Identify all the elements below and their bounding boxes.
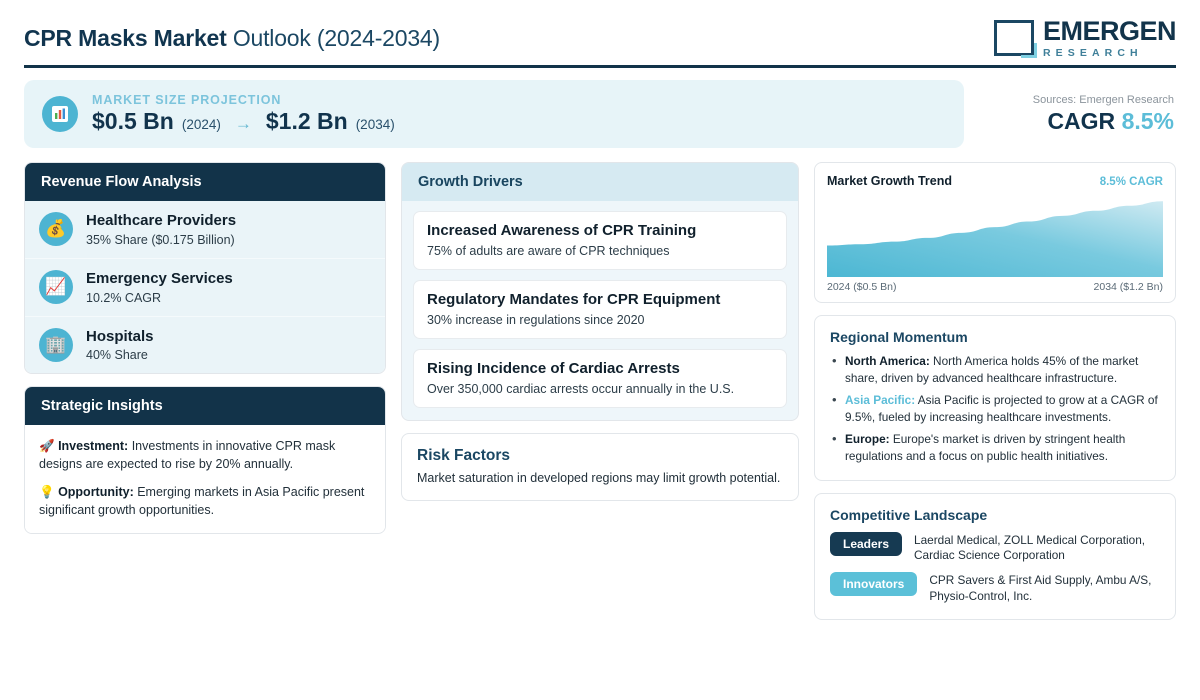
growth-drivers-card: Growth Drivers Increased Awareness of CP…: [401, 162, 799, 421]
cagr-headline: CAGR 8.5%: [1033, 108, 1174, 135]
driver-title: Regulatory Mandates for CPR Equipment: [427, 291, 773, 309]
status-badge-innovators: Innovators: [830, 572, 917, 596]
page-title: CPR Masks Market Outlook (2024-2034): [24, 25, 440, 52]
middle-column: Growth Drivers Increased Awareness of CP…: [401, 162, 799, 501]
row-name: Emergency Services: [86, 270, 233, 289]
driver-title: Increased Awareness of CPR Training: [427, 222, 773, 240]
year-2024: (2024): [182, 117, 221, 132]
emergen-research-logo: EMERGEN RESEARCH: [994, 18, 1176, 59]
chart-increasing-icon: 📈: [39, 270, 73, 304]
sources-text: Sources: Emergen Research: [1033, 94, 1174, 106]
logo-name: EMERGEN: [1043, 18, 1176, 45]
growth-drivers-list: Increased Awareness of CPR Training 75% …: [402, 201, 798, 420]
list-item[interactable]: Regulatory Mandates for CPR Equipment 30…: [413, 280, 787, 339]
risk-factors-card: Risk Factors Market saturation in develo…: [401, 433, 799, 501]
revenue-flow-title: Revenue Flow Analysis: [25, 163, 385, 201]
chart-header: Market Growth Trend 8.5% CAGR: [827, 174, 1163, 188]
market-size-figures: $0.5 Bn (2024) → $1.2 Bn (2034): [92, 108, 395, 135]
market-size-label: MARKET SIZE PROJECTION: [92, 93, 395, 107]
logo-subtitle: RESEARCH: [1043, 48, 1176, 59]
row-text: Healthcare Providers 35% Share ($0.175 B…: [86, 212, 236, 247]
content-columns: Revenue Flow Analysis 💰 Healthcare Provi…: [24, 162, 1176, 620]
header-divider: [24, 65, 1176, 68]
year-2034: (2034): [356, 117, 395, 132]
innovators-companies: CPR Savers & First Aid Supply, Ambu A/S,…: [929, 572, 1160, 604]
list-item[interactable]: Rising Incidence of Cardiac Arrests Over…: [413, 349, 787, 408]
risk-factors-text: Market saturation in developed regions m…: [417, 471, 783, 485]
driver-title: Rising Incidence of Cardiac Arrests: [427, 360, 773, 378]
logo-square-icon: [994, 20, 1034, 56]
list-item: Asia Pacific: Asia Pacific is projected …: [830, 392, 1160, 426]
risk-factors-title: Risk Factors: [417, 447, 783, 465]
list-item[interactable]: 🏢 Hospitals 40% Share: [25, 317, 385, 374]
cagr-value: 8.5%: [1122, 108, 1174, 134]
regional-momentum-list: North America: North America holds 45% o…: [830, 353, 1160, 466]
page-title-strong: CPR Masks Market: [24, 25, 227, 51]
lightbulb-icon: 💡: [39, 485, 55, 499]
competitive-group-leaders: Leaders Laerdal Medical, ZOLL Medical Co…: [830, 532, 1160, 564]
chart-label-end: 2034 ($1.2 Bn): [1094, 281, 1163, 293]
chart-axis-labels: 2024 ($0.5 Bn) 2034 ($1.2 Bn): [827, 281, 1163, 293]
money-bag-icon: 💰: [39, 212, 73, 246]
arrow-icon: →: [235, 114, 252, 134]
hospital-building-icon: 🏢: [39, 328, 73, 362]
leaders-companies: Laerdal Medical, ZOLL Medical Corporatio…: [914, 532, 1160, 564]
insight-label: Opportunity:: [58, 485, 134, 499]
regional-momentum-card: Regional Momentum North America: North A…: [814, 315, 1176, 481]
page-title-rest: Outlook (2024-2034): [227, 25, 440, 51]
row-name: Healthcare Providers: [86, 212, 236, 231]
region-label: Asia Pacific:: [845, 393, 915, 407]
row-name: Hospitals: [86, 328, 154, 347]
chart-plot-area: [827, 195, 1163, 277]
row-value: 40% Share: [86, 348, 154, 362]
competitive-landscape-title: Competitive Landscape: [830, 507, 1160, 523]
value-2034: $1.2 Bn: [266, 108, 348, 135]
infographic-page: CPR Masks Market Outlook (2024-2034) EME…: [0, 0, 1200, 700]
left-column: Revenue Flow Analysis 💰 Healthcare Provi…: [24, 162, 386, 534]
chart-cagr-annotation: 8.5% CAGR: [1100, 176, 1163, 188]
insight-investment: 🚀 Investment: Investments in innovative …: [39, 437, 371, 473]
region-label: Europe:: [845, 432, 890, 446]
competitive-group-innovators: Innovators CPR Savers & First Aid Supply…: [830, 572, 1160, 604]
value-2024: $0.5 Bn: [92, 108, 174, 135]
status-badge-leaders: Leaders: [830, 532, 902, 556]
driver-detail: Over 350,000 cardiac arrests occur annua…: [427, 382, 773, 396]
driver-detail: 75% of adults are aware of CPR technique…: [427, 244, 773, 258]
row-text: Hospitals 40% Share: [86, 328, 154, 363]
row-value: 10.2% CAGR: [86, 291, 233, 305]
logo-text: EMERGEN RESEARCH: [1043, 18, 1176, 59]
list-item[interactable]: 📈 Emergency Services 10.2% CAGR: [25, 259, 385, 317]
list-item[interactable]: 💰 Healthcare Providers 35% Share ($0.175…: [25, 201, 385, 259]
cagr-label: CAGR: [1047, 108, 1115, 134]
competitive-landscape-card: Competitive Landscape Leaders Laerdal Me…: [814, 493, 1176, 620]
market-size-banner: MARKET SIZE PROJECTION $0.5 Bn (2024) → …: [24, 80, 964, 148]
strategic-insights-body: 🚀 Investment: Investments in innovative …: [25, 425, 385, 533]
list-item: North America: North America holds 45% o…: [830, 353, 1160, 387]
market-size-text: MARKET SIZE PROJECTION $0.5 Bn (2024) → …: [92, 93, 395, 135]
right-column: Market Growth Trend 8.5% CAGR: [814, 162, 1176, 620]
logo-square-inner: [1021, 43, 1037, 58]
rocket-icon: 🚀: [39, 439, 55, 453]
cagr-block: Sources: Emergen Research CAGR 8.5%: [1033, 94, 1176, 135]
chart-title: Market Growth Trend: [827, 174, 952, 188]
list-item[interactable]: Increased Awareness of CPR Training 75% …: [413, 211, 787, 270]
insight-label: Investment:: [58, 439, 128, 453]
driver-detail: 30% increase in regulations since 2020: [427, 313, 773, 327]
revenue-flow-rows: 💰 Healthcare Providers 35% Share ($0.175…: [25, 201, 385, 373]
strategic-insights-title: Strategic Insights: [25, 387, 385, 425]
market-growth-trend-chart: Market Growth Trend 8.5% CAGR: [814, 162, 1176, 303]
summary-banner-row: MARKET SIZE PROJECTION $0.5 Bn (2024) → …: [24, 80, 1176, 148]
bar-chart-icon: [42, 96, 78, 132]
page-header: CPR Masks Market Outlook (2024-2034) EME…: [24, 0, 1176, 62]
row-text: Emergency Services 10.2% CAGR: [86, 270, 233, 305]
insight-opportunity: 💡 Opportunity: Emerging markets in Asia …: [39, 483, 371, 519]
region-label: North America:: [845, 354, 930, 368]
regional-momentum-title: Regional Momentum: [830, 329, 1160, 345]
growth-drivers-title: Growth Drivers: [402, 163, 798, 201]
list-item: Europe: Europe's market is driven by str…: [830, 431, 1160, 465]
strategic-insights-card: Strategic Insights 🚀 Investment: Investm…: [24, 386, 386, 534]
chart-label-start: 2024 ($0.5 Bn): [827, 281, 896, 293]
row-value: 35% Share ($0.175 Billion): [86, 233, 236, 247]
revenue-flow-card: Revenue Flow Analysis 💰 Healthcare Provi…: [24, 162, 386, 374]
